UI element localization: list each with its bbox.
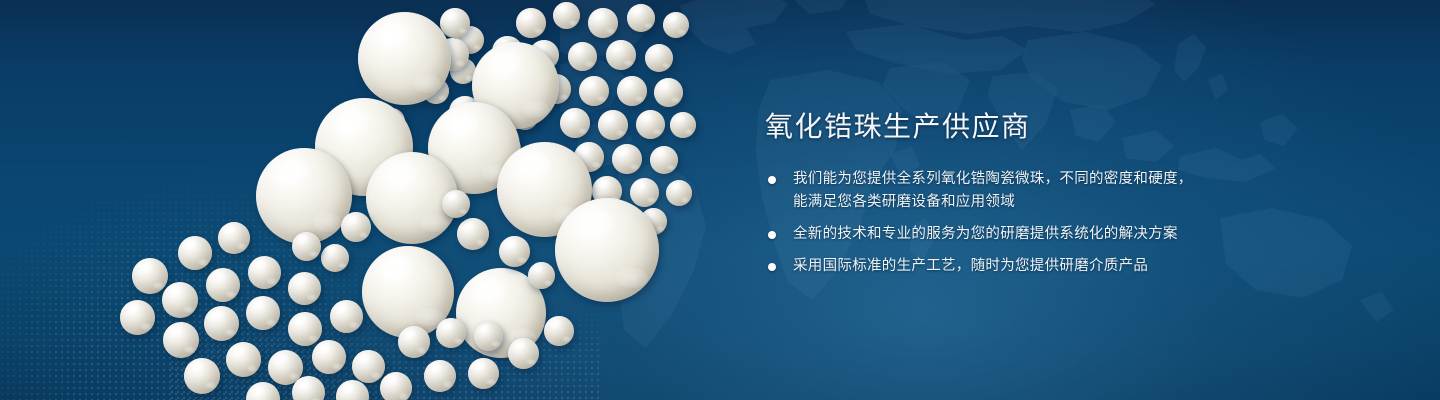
banner-content: 氧化锆珠生产供应商 我们能为您提供全系列氧化锆陶瓷微珠，不同的密度和硬度， 能满… xyxy=(763,0,1283,400)
list-item: 采用国际标准的生产工艺，随时为您提供研磨介质产品 xyxy=(767,255,1237,278)
page-title: 氧化锆珠生产供应商 xyxy=(765,110,1031,144)
bullet-dot-icon xyxy=(768,231,776,239)
list-item-line-1: 我们能为您提供全系列氧化锆陶瓷微珠，不同的密度和硬度， xyxy=(793,168,1237,191)
list-item-line-2: 能满足您各类研磨设备和应用领域 xyxy=(793,191,1237,214)
list-item-line-1: 采用国际标准的生产工艺，随时为您提供研磨介质产品 xyxy=(793,255,1237,278)
feature-list: 我们能为您提供全系列氧化锆陶瓷微珠，不同的密度和硬度， 能满足您各类研磨设备和应… xyxy=(767,168,1237,278)
list-item: 我们能为您提供全系列氧化锆陶瓷微珠，不同的密度和硬度， 能满足您各类研磨设备和应… xyxy=(767,168,1237,214)
bullet-dot-icon xyxy=(768,263,776,271)
bullet-dot-icon xyxy=(768,176,776,184)
hero-banner: 氧化锆珠生产供应商 我们能为您提供全系列氧化锆陶瓷微珠，不同的密度和硬度， 能满… xyxy=(0,0,1440,400)
list-item: 全新的技术和专业的服务为您的研磨提供系统化的解决方案 xyxy=(767,223,1237,246)
list-item-line-1: 全新的技术和专业的服务为您的研磨提供系统化的解决方案 xyxy=(793,223,1237,246)
